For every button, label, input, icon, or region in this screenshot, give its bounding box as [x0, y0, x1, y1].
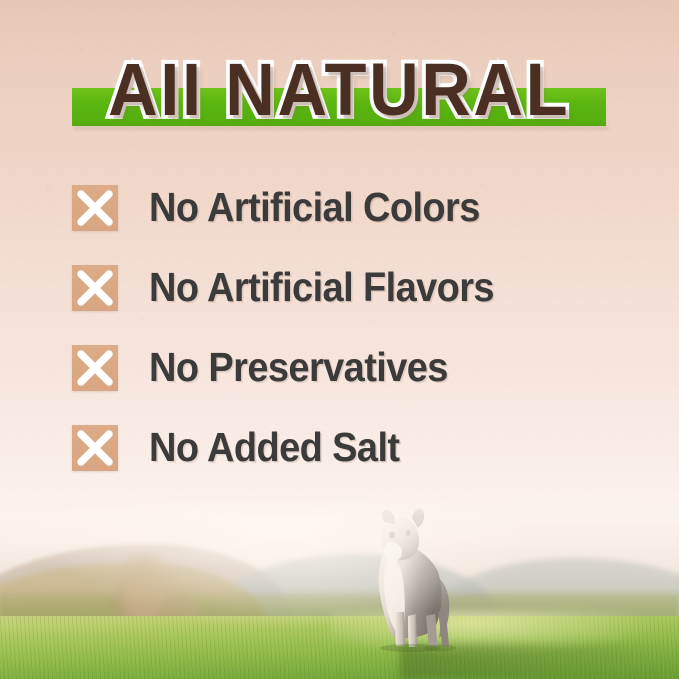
x-mark-icon: [72, 265, 118, 311]
x-mark-icon: [72, 425, 118, 471]
x-mark-icon: [72, 345, 118, 391]
list-item: No Added Salt: [0, 408, 679, 488]
list-item: No Preservatives: [0, 328, 679, 408]
list-item-label: No Preservatives: [149, 347, 448, 390]
list-item: No Artificial Colors: [0, 168, 679, 248]
claims-list: No Artificial Colors No Artificial Flavo…: [0, 168, 679, 488]
lifestyle-photo: [0, 498, 679, 679]
page-title-text: AII NATURAL: [108, 50, 570, 128]
page-title: AII NATURAL: [0, 50, 679, 128]
product-feature-poster: AII NATURAL No Artificial Colors: [0, 0, 679, 679]
list-item: No Artificial Flavors: [0, 248, 679, 328]
list-item-label: No Added Salt: [149, 427, 399, 470]
dog-icon: [352, 504, 458, 654]
list-item-label: No Artificial Colors: [149, 187, 480, 230]
x-mark-icon: [72, 185, 118, 231]
list-item-label: No Artificial Flavors: [149, 267, 494, 310]
